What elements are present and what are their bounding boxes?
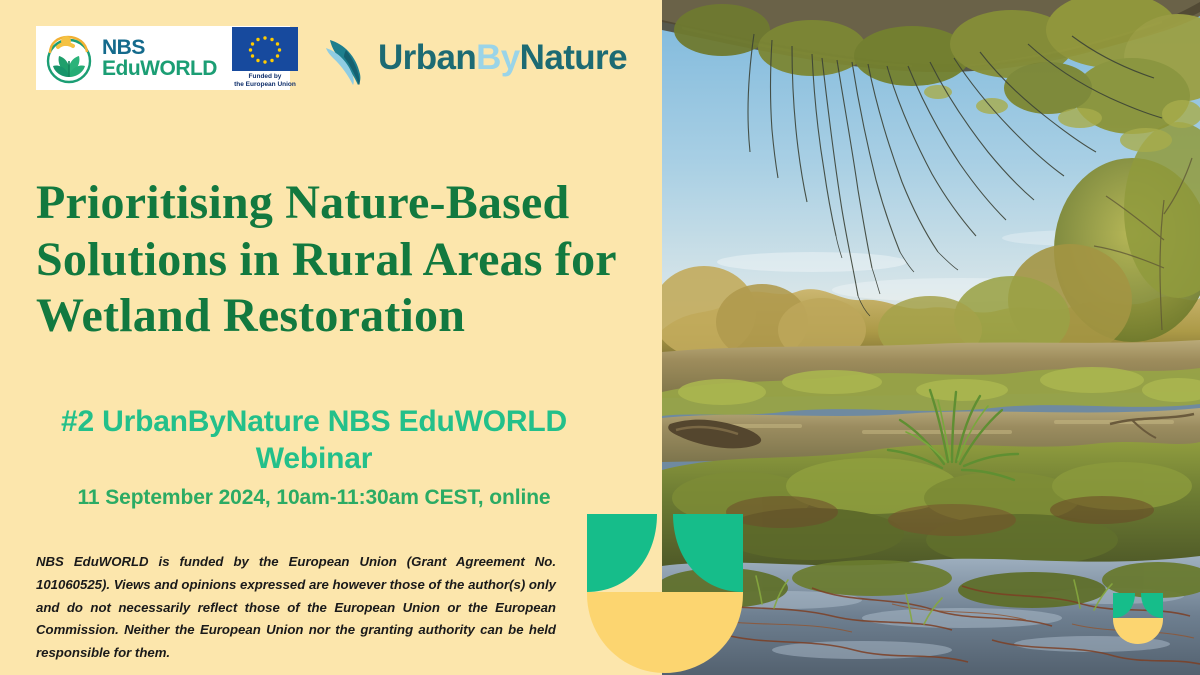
nbs-logo-line1: NBS <box>102 37 217 58</box>
nbs-eduworld-eu-logo-box: NBS EduWORLD <box>36 26 290 90</box>
page-title: Prioritising Nature-Based Solutions in R… <box>36 175 616 345</box>
eu-caption-line1: Funded by <box>249 73 282 80</box>
urbanbynature-leaf-swoosh-icon <box>324 30 368 86</box>
urbanbynature-logo: UrbanByNature <box>324 30 627 86</box>
nbs-eduworld-globe-leaf-icon <box>42 31 96 85</box>
nbs-eduworld-wordmark: NBS EduWORLD <box>102 37 217 79</box>
urbanbynature-wordmark: UrbanByNature <box>378 38 627 78</box>
eu-funding-block: Funded by the European Union <box>227 27 303 89</box>
ubn-word-by: By <box>476 38 520 77</box>
tulip-logo-mark-large <box>585 512 745 675</box>
ubn-word-nature: Nature <box>520 38 627 77</box>
content-panel: NBS EduWORLD <box>0 0 662 675</box>
event-datetime: 11 September 2024, 10am-11:30am CEST, on… <box>20 486 608 510</box>
ubn-word-urban: Urban <box>378 38 476 77</box>
logo-strip: NBS EduWORLD <box>36 26 627 90</box>
nbs-logo-line2: EduWORLD <box>102 58 217 79</box>
eu-caption-line2: the European Union <box>234 81 296 88</box>
event-subtitle: #2 UrbanByNature NBS EduWORLD Webinar <box>20 404 608 477</box>
eu-flag-icon <box>232 27 298 71</box>
eu-funding-caption: Funded by the European Union <box>227 73 303 89</box>
eu-funding-disclaimer: NBS EduWORLD is funded by the European U… <box>36 551 556 665</box>
tulip-logo-mark-small <box>1112 592 1164 645</box>
webinar-promo-banner: NBS EduWORLD <box>0 0 1200 675</box>
